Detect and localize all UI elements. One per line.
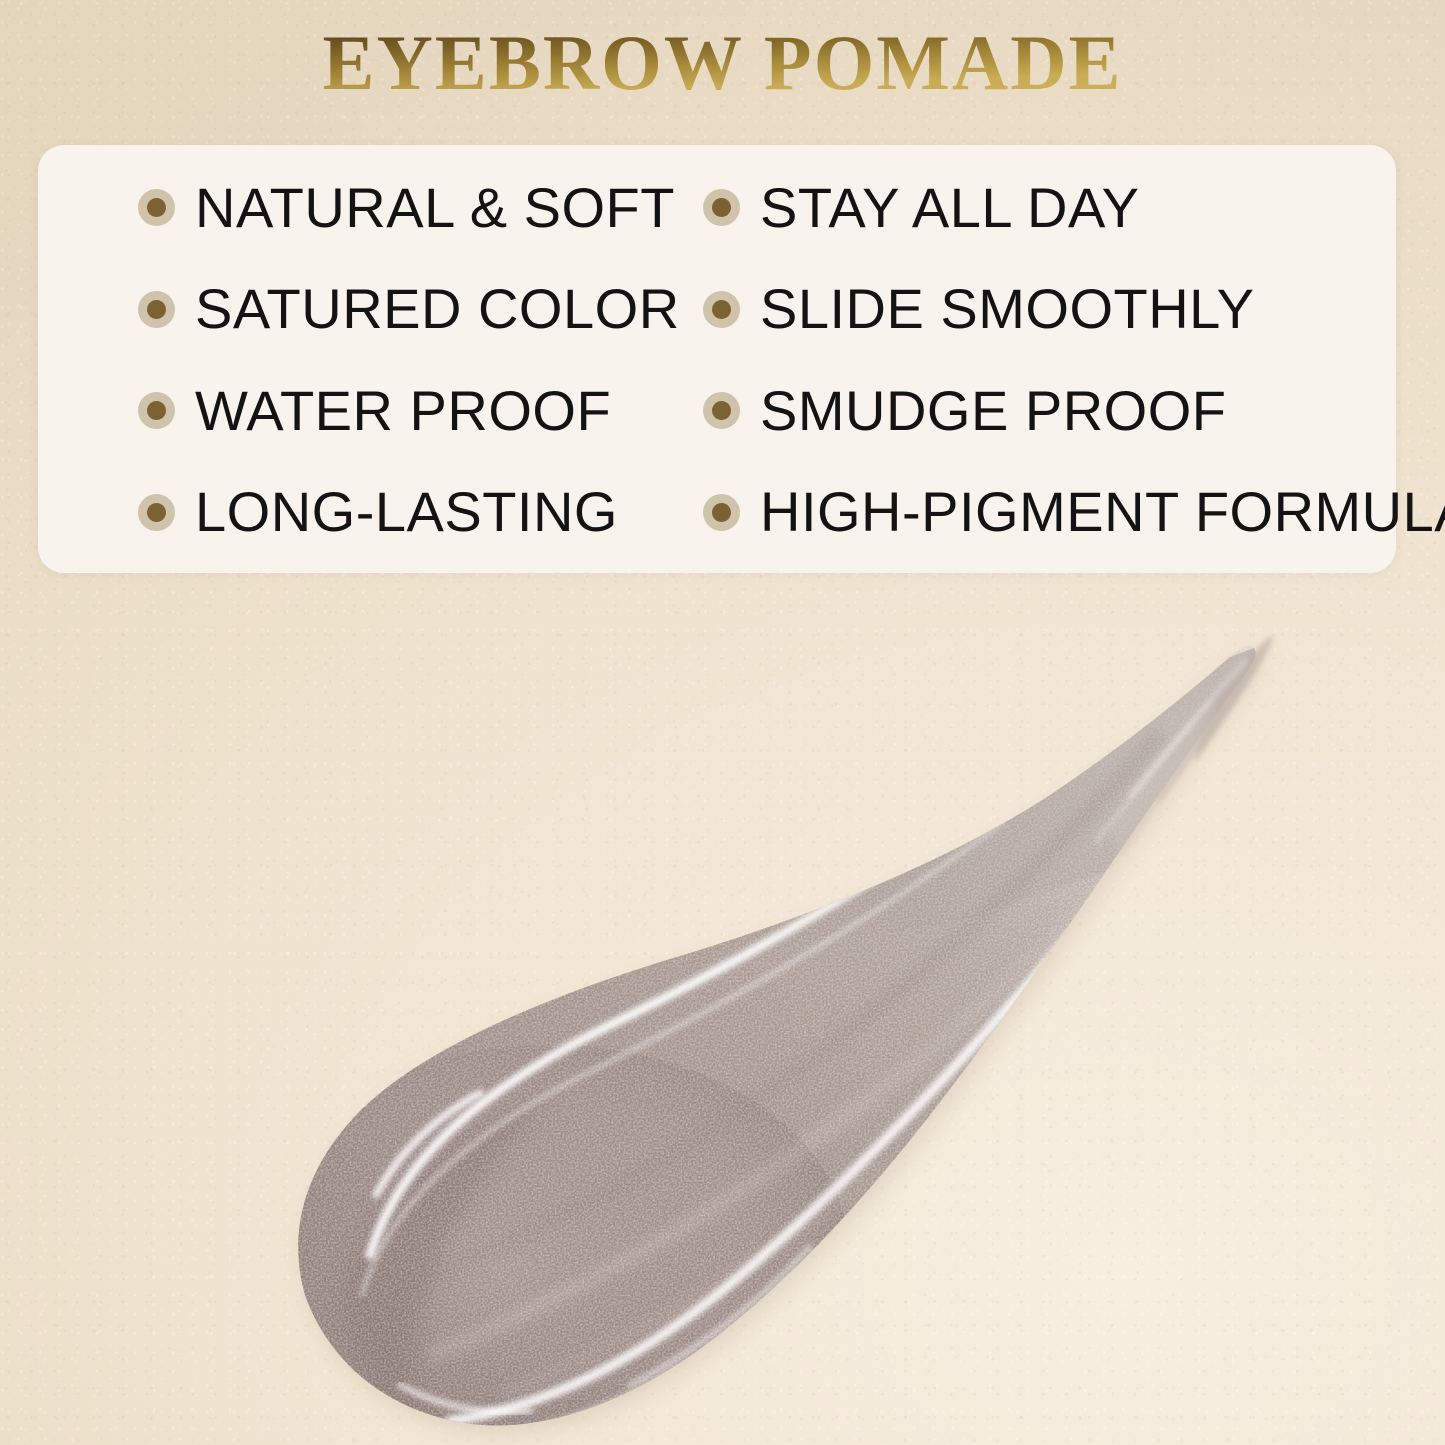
feature-label: SATURED COLOR xyxy=(195,281,680,337)
feature-item-natural-soft: NATURAL & SOFT xyxy=(38,157,693,259)
bullet-dot-icon xyxy=(703,494,740,531)
feature-label: LONG-LASTING xyxy=(195,484,618,540)
feature-label: STAY ALL DAY xyxy=(760,180,1140,236)
bullet-dot-icon xyxy=(703,392,740,429)
feature-label: SLIDE SMOOTHLY xyxy=(760,281,1255,337)
page-title: EYEBROW POMADE xyxy=(0,22,1445,104)
features-grid: NATURAL & SOFT STAY ALL DAY SATURED COLO… xyxy=(38,145,1396,573)
feature-item-stay-all-day: STAY ALL DAY xyxy=(693,157,1396,259)
feature-item-slide-smoothly: SLIDE SMOOTHLY xyxy=(693,259,1396,361)
feature-item-high-pigment-formula: HIGH-PIGMENT FORMULA xyxy=(693,462,1396,564)
feature-item-long-lasting: LONG-LASTING xyxy=(38,462,693,564)
feature-item-water-proof: WATER PROOF xyxy=(38,360,693,462)
feature-item-smudge-proof: SMUDGE PROOF xyxy=(693,360,1396,462)
feature-label: WATER PROOF xyxy=(195,383,611,439)
bullet-dot-icon xyxy=(138,291,175,328)
feature-label: HIGH-PIGMENT FORMULA xyxy=(760,484,1445,540)
bullet-dot-icon xyxy=(703,189,740,226)
bullet-dot-icon xyxy=(138,189,175,226)
product-feature-graphic: EYEBROW POMADE NATURAL & SOFT STAY ALL D… xyxy=(0,0,1445,1445)
pomade-smear-icon xyxy=(250,595,1310,1445)
pomade-smear-swatch xyxy=(250,595,1310,1445)
bullet-dot-icon xyxy=(138,392,175,429)
feature-label: NATURAL & SOFT xyxy=(195,180,675,236)
bullet-dot-icon xyxy=(138,494,175,531)
bullet-dot-icon xyxy=(703,291,740,328)
feature-label: SMUDGE PROOF xyxy=(760,383,1226,439)
feature-item-satured-color: SATURED COLOR xyxy=(38,259,693,361)
features-card: NATURAL & SOFT STAY ALL DAY SATURED COLO… xyxy=(38,145,1396,573)
